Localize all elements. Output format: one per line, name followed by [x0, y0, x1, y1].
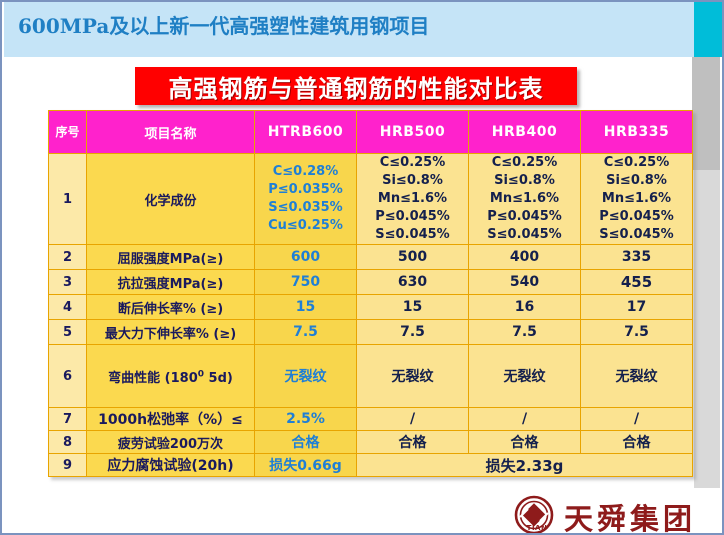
header-accent-bar [694, 2, 722, 57]
cell-sn: 3 [49, 270, 87, 295]
cell-item-name: 弯曲性能 (1800 5d) [87, 345, 255, 408]
cell-hrb400: 无裂纹 [469, 345, 581, 408]
cell-htrb600: 15 [255, 295, 357, 320]
cell-hrb335: 7.5 [581, 320, 693, 345]
value-line: C≤0.25% [357, 154, 468, 172]
col-header-sn: 序号 [49, 111, 87, 154]
section-title-text: 高强钢筋与普通钢筋的性能对比表 [169, 69, 544, 104]
cell-item-name: 屈服强度MPa(≥) [87, 245, 255, 270]
cell-hrb400: 16 [469, 295, 581, 320]
cell-merged-loss: 损失2.33g [357, 454, 693, 477]
table-header-row: 序号 项目名称 HTRB600 HRB500 HRB400 HRB335 [49, 111, 693, 154]
cell-item-name: 应力腐蚀试验(20h) [87, 454, 255, 477]
logo-subtext: TIAN SHUN [514, 524, 560, 535]
cell-hrb400: 540 [469, 270, 581, 295]
table-row: 7 1000h松弛率（%）≤ 2.5% / / / [49, 408, 693, 431]
value-line: S≤0.035% [255, 199, 356, 217]
value-line: C≤0.25% [469, 154, 580, 172]
cell-item-name: 1000h松弛率（%）≤ [87, 408, 255, 431]
value-line: S≤0.045% [357, 226, 468, 244]
cell-hrb335: 合格 [581, 431, 693, 454]
col-header-hrb500: HRB500 [357, 111, 469, 154]
cell-hrb400: 400 [469, 245, 581, 270]
cell-htrb600: 600 [255, 245, 357, 270]
header-banner: 600MPa及以上新一代高强塑性建筑用钢项目 [4, 2, 722, 57]
value-line: Mn≤1.6% [581, 190, 692, 208]
cell-hrb500: 15 [357, 295, 469, 320]
cell-hrb400: 合格 [469, 431, 581, 454]
value-line: Si≤0.8% [581, 172, 692, 190]
col-header-hrb400: HRB400 [469, 111, 581, 154]
cell-hrb500: 无裂纹 [357, 345, 469, 408]
col-header-htrb600: HTRB600 [255, 111, 357, 154]
table-row: 9 应力腐蚀试验(20h) 损失0.66g 损失2.33g [49, 454, 693, 477]
table-row: 6 弯曲性能 (1800 5d) 无裂纹 无裂纹 无裂纹 无裂纹 [49, 345, 693, 408]
slide-canvas: 600MPa及以上新一代高强塑性建筑用钢项目 高强钢筋与普通钢筋的性能对比表 序… [0, 0, 724, 535]
cell-sn: 5 [49, 320, 87, 345]
value-line: P≤0.045% [357, 208, 468, 226]
cell-sn: 2 [49, 245, 87, 270]
cell-hrb400: / [469, 408, 581, 431]
side-bar-upper [692, 57, 720, 170]
cell-hrb335: C≤0.25% Si≤0.8% Mn≤1.6% P≤0.045% S≤0.045… [581, 154, 693, 245]
table-row: 2 屈服强度MPa(≥) 600 500 400 335 [49, 245, 693, 270]
table-row: 4 断后伸长率% (≥) 15 15 16 17 [49, 295, 693, 320]
name-suffix: 5d) [204, 371, 233, 386]
cell-sn: 8 [49, 431, 87, 454]
value-line: P≤0.045% [581, 208, 692, 226]
side-bar-lower [694, 170, 720, 488]
value-line: Mn≤1.6% [469, 190, 580, 208]
cell-hrb500: 630 [357, 270, 469, 295]
logo-wordmark: 天舜集团 [564, 496, 696, 535]
cell-hrb335: 455 [581, 270, 693, 295]
cell-sn: 7 [49, 408, 87, 431]
table-body: 1 化学成份 C≤0.28% P≤0.035% S≤0.035% Cu≤0.25… [49, 154, 693, 477]
cell-htrb600: 2.5% [255, 408, 357, 431]
cell-htrb600: 无裂纹 [255, 345, 357, 408]
cell-hrb400: C≤0.25% Si≤0.8% Mn≤1.6% P≤0.045% S≤0.045… [469, 154, 581, 245]
value-line: Mn≤1.6% [357, 190, 468, 208]
value-line: Si≤0.8% [469, 172, 580, 190]
col-header-name: 项目名称 [87, 111, 255, 154]
cell-hrb335: / [581, 408, 693, 431]
performance-comparison-table: 序号 项目名称 HTRB600 HRB500 HRB400 HRB335 1 化… [48, 110, 693, 477]
cell-htrb600: 损失0.66g [255, 454, 357, 477]
value-line: P≤0.035% [255, 181, 356, 199]
cell-item-name: 断后伸长率% (≥) [87, 295, 255, 320]
cell-item-name: 最大力下伸长率% (≥) [87, 320, 255, 345]
cell-htrb600: C≤0.28% P≤0.035% S≤0.035% Cu≤0.25% [255, 154, 357, 245]
table-row: 5 最大力下伸长率% (≥) 7.5 7.5 7.5 7.5 [49, 320, 693, 345]
value-line: C≤0.25% [581, 154, 692, 172]
cell-hrb335: 无裂纹 [581, 345, 693, 408]
cell-sn: 4 [49, 295, 87, 320]
value-line: S≤0.045% [581, 226, 692, 244]
cell-htrb600: 7.5 [255, 320, 357, 345]
value-line: S≤0.045% [469, 226, 580, 244]
cell-hrb335: 17 [581, 295, 693, 320]
cell-sn: 1 [49, 154, 87, 245]
cell-hrb500: C≤0.25% Si≤0.8% Mn≤1.6% P≤0.045% S≤0.045… [357, 154, 469, 245]
table-header: 序号 项目名称 HTRB600 HRB500 HRB400 HRB335 [49, 111, 693, 154]
cell-item-name: 疲劳试验200万次 [87, 431, 255, 454]
cell-item-name: 抗拉强度MPa(≥) [87, 270, 255, 295]
cell-sn: 9 [49, 454, 87, 477]
value-line: Cu≤0.25% [255, 217, 356, 235]
value-line: P≤0.045% [469, 208, 580, 226]
table-row: 3 抗拉强度MPa(≥) 750 630 540 455 [49, 270, 693, 295]
cell-htrb600: 合格 [255, 431, 357, 454]
name-prefix: 弯曲性能 (180 [108, 371, 198, 386]
cell-hrb500: / [357, 408, 469, 431]
cell-hrb400: 7.5 [469, 320, 581, 345]
cell-hrb500: 500 [357, 245, 469, 270]
cell-item-name: 化学成份 [87, 154, 255, 245]
cell-sn: 6 [49, 345, 87, 408]
col-header-hrb335: HRB335 [581, 111, 693, 154]
cell-htrb600: 750 [255, 270, 357, 295]
value-line: C≤0.28% [255, 163, 356, 181]
page-title: 600MPa及以上新一代高强塑性建筑用钢项目 [18, 10, 429, 39]
cell-hrb500: 合格 [357, 431, 469, 454]
cell-hrb500: 7.5 [357, 320, 469, 345]
value-line: Si≤0.8% [357, 172, 468, 190]
table-row: 8 疲劳试验200万次 合格 合格 合格 合格 [49, 431, 693, 454]
table-row: 1 化学成份 C≤0.28% P≤0.035% S≤0.035% Cu≤0.25… [49, 154, 693, 245]
cell-hrb335: 335 [581, 245, 693, 270]
company-logo: TIAN SHUN 天舜集团 [514, 494, 692, 534]
section-title-box: 高强钢筋与普通钢筋的性能对比表 [135, 67, 577, 105]
